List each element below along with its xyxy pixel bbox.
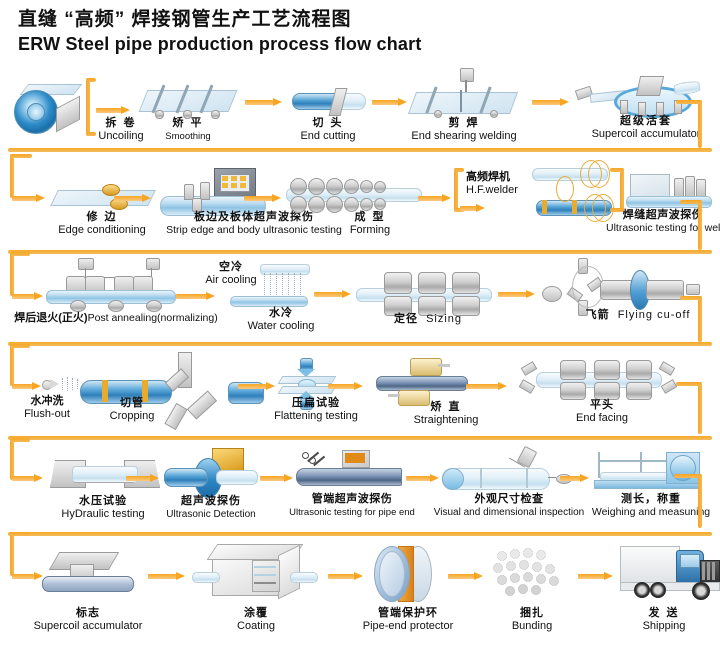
- step-cn: 水冷: [232, 308, 330, 320]
- title-chinese: 直缝 “高频” 焊接钢管生产工艺流程图: [18, 8, 422, 32]
- hydro-test-icon: [48, 452, 158, 492]
- step-label-hydro-test: 水压试验 HyDraulic testing: [50, 496, 156, 521]
- flow-row-4: 水冲洗 Flush-out 切管 Cropping: [8, 352, 712, 434]
- step-en: Post annealing(normalizing): [88, 312, 218, 324]
- step-en: Strip edge and body ultrasonic testing: [156, 224, 352, 237]
- row4-arrow-3: [466, 382, 508, 391]
- row4-entry-arrow: [12, 382, 42, 391]
- row-divider-2: [8, 250, 712, 254]
- step-label-edge-conditioning: 修 边 Edge conditioning: [38, 212, 166, 237]
- annealing-furnace-icon: [46, 260, 178, 314]
- step-label-shipping: 发 送 Shipping: [616, 608, 712, 633]
- flow-row-2: 修 边 Edge conditioning 板边及板体超声波探伤 Strip e…: [8, 160, 712, 248]
- step-label-straightening: 矫 直 Straightening: [398, 402, 494, 427]
- step-cn: 切 头: [286, 118, 370, 130]
- step-cn: 水压试验: [50, 496, 156, 508]
- step-en: Pipe-end protector: [342, 620, 474, 633]
- step-en: Cropping: [84, 410, 180, 423]
- accumulator-loop-icon: [576, 74, 696, 120]
- water-jet-icon: [42, 376, 82, 394]
- row1-arrow-2: [245, 98, 283, 107]
- row5-arrow-1: [126, 474, 160, 483]
- step-label-coating: 涂覆 Coating: [214, 608, 298, 633]
- pipe-end-ut-icon: [296, 450, 402, 494]
- step-cn: 水冲洗: [8, 396, 86, 408]
- step-label-visual-inspection: 外观尺寸检查 Visual and dimensional inspection: [418, 494, 600, 519]
- step-cn: 切管: [84, 398, 180, 410]
- row3-entry-arrow: [12, 292, 44, 301]
- row6-entry-arrow: [12, 572, 44, 581]
- row1-arrow-3: [372, 98, 408, 107]
- forming-rolls-icon: [286, 176, 422, 210]
- row2-arrow-3: [418, 194, 452, 203]
- step-en: Edge conditioning: [38, 224, 166, 237]
- row3-arrow-1: [176, 292, 216, 301]
- step-label-cropping: 切管 Cropping: [84, 398, 180, 423]
- step-en: Water cooling: [232, 320, 330, 333]
- step-label-pipe-end-ut: 管端超声波探伤 Ultrasonic testing for pipe end: [276, 494, 428, 519]
- shear-welder-icon: [412, 70, 516, 118]
- step-combined: 定径 Sizing: [378, 314, 478, 326]
- coating-booth-icon: [204, 544, 314, 598]
- row2-arrow-1: [114, 194, 152, 203]
- ut-cabinet-icon: [158, 168, 268, 214]
- step-en: Flattening testing: [252, 410, 380, 423]
- step-en: Ultrasonic testing for pipe end: [276, 506, 428, 519]
- step-cn: 矫 直: [398, 402, 494, 414]
- water-spray-icon: [256, 264, 312, 306]
- step-label-strip-ut: 板边及板体超声波探伤 Strip edge and body ultrasoni…: [156, 212, 352, 237]
- weighing-scale-icon: [594, 448, 702, 496]
- title-english: ERW Steel pipe production process flow c…: [18, 33, 422, 56]
- step-label-water-cooling: 水冷 Water cooling: [232, 308, 330, 333]
- row5-arrow-4: [560, 474, 590, 483]
- row6-arrow-2: [328, 572, 364, 581]
- end-facing-icon: [518, 356, 678, 404]
- sizing-rolls-icon: [356, 272, 492, 314]
- step-cn: 管端保护环: [342, 608, 474, 620]
- step-cn: 超级活套: [586, 116, 706, 128]
- flow-row-3: 焊后退火(正火)Post annealing(normalizing) 空冷 A…: [8, 260, 712, 340]
- row6-arrow-4: [578, 572, 614, 581]
- step-label-forming: 成 型 Forming: [338, 212, 402, 237]
- step-en: Flush-out: [8, 408, 86, 421]
- step-en: End cutting: [286, 130, 370, 143]
- step-cn: 矫 平: [148, 118, 228, 130]
- page-title: 直缝 “高频” 焊接钢管生产工艺流程图 ERW Steel pipe produ…: [18, 8, 422, 56]
- row6-arrow-3: [448, 572, 484, 581]
- row-divider-4: [8, 436, 712, 440]
- step-label-flying-cutoff: 飞箭 Flying cu-off: [560, 310, 716, 322]
- step-label-weld-seam-ut: 焊缝超声波探伤 Ultrasonic testing for weld seam: [606, 210, 720, 235]
- step-cn: 标志: [18, 608, 158, 620]
- shear-blade-icon: [292, 88, 364, 114]
- step-cn: 捆扎: [490, 608, 574, 620]
- step-en: Smoothing: [148, 130, 228, 143]
- step-cn: 压扁试验: [252, 398, 380, 410]
- step-en: Sizing: [426, 313, 462, 325]
- step-en: Supercoil accumulator: [586, 128, 706, 141]
- step-en: Supercoil accumulator: [18, 620, 158, 633]
- step-en: Coating: [214, 620, 298, 633]
- row2-arrow-4: [460, 204, 486, 213]
- row4-arrow-1: [238, 382, 276, 391]
- step-en: Shipping: [616, 620, 712, 633]
- step-cn: 剪 焊: [400, 118, 528, 130]
- ut-head-icon: [164, 448, 256, 496]
- step-label-marking: 标志 Supercoil accumulator: [18, 608, 158, 633]
- step-label-uncoiling: 拆 卷 Uncoiling: [86, 118, 156, 143]
- row3-arrow-3: [498, 290, 536, 299]
- step-cn: 焊缝超声波探伤: [606, 210, 720, 222]
- steel-coil-icon: [12, 82, 82, 130]
- straightening-rolls-icon: [376, 358, 466, 404]
- step-label-smoothing: 矫 平 Smoothing: [148, 118, 228, 143]
- step-label-end-cutting: 切 头 End cutting: [286, 118, 370, 143]
- step-en: Uncoiling: [86, 130, 156, 143]
- bundling-icon: [490, 548, 570, 598]
- row2-arrow-2: [244, 194, 282, 203]
- row1-arrow-1: [96, 106, 130, 115]
- step-cn: 外观尺寸检查: [418, 494, 600, 506]
- step-cn: 发 送: [616, 608, 712, 620]
- flowchart-page: 直缝 “高频” 焊接钢管生产工艺流程图 ERW Steel pipe produ…: [0, 0, 720, 653]
- step-en: HyDraulic testing: [50, 508, 156, 521]
- step-en: End shearing welding: [400, 130, 528, 143]
- row4-arrow-2: [328, 382, 364, 391]
- end-cap-icon: [374, 546, 442, 602]
- step-en: Ultrasonic testing for weld seam: [606, 222, 720, 235]
- step-label-accumulator: 超级活套 Supercoil accumulator: [586, 116, 706, 141]
- step-label-annealing: 焊后退火(正火)Post annealing(normalizing): [8, 312, 224, 325]
- step-label-sizing: 定径 Sizing: [378, 314, 478, 326]
- step-cn: 超声波探伤: [158, 496, 264, 508]
- row3-arrow-2: [314, 290, 352, 299]
- flow-row-5: 水压试验 HyDraulic testing 超声波探伤 Ultrasonic …: [8, 446, 712, 530]
- step-cn: 定径: [394, 313, 418, 325]
- step-label-shear-welding: 剪 焊 End shearing welding: [400, 118, 528, 143]
- step-cn: 板边及板体超声波探伤: [156, 212, 352, 224]
- step-combined: 焊后退火(正火)Post annealing(normalizing): [8, 312, 224, 325]
- visual-inspect-icon: [442, 448, 572, 494]
- marking-icon: [42, 552, 134, 588]
- row6-arrow-1: [148, 572, 186, 581]
- step-label-end-protector: 管端保护环 Pipe-end protector: [342, 608, 474, 633]
- step-cn: 飞箭: [586, 309, 610, 321]
- step-en: Visual and dimensional inspection: [418, 506, 600, 519]
- weld-seam-ut-icon: [630, 174, 708, 212]
- row5-arrow-3: [406, 474, 440, 483]
- flying-saw-icon: [542, 260, 702, 312]
- step-en: Straightening: [398, 414, 494, 427]
- step-label-ut-detection: 超声波探伤 Ultrasonic Detection: [158, 496, 264, 521]
- row5-entry-arrow: [12, 474, 44, 483]
- step-cn: 焊后退火(正火): [14, 312, 87, 324]
- row-divider-3: [8, 342, 712, 346]
- flow-row-1: 拆 卷 Uncoiling 矫 平 Smoothing 切 头: [8, 70, 712, 148]
- step-combined: 飞箭 Flying cu-off: [560, 310, 716, 322]
- leveling-rolls-icon: [143, 82, 233, 118]
- step-cn: 修 边: [38, 212, 166, 224]
- step-en: End facing: [548, 412, 656, 425]
- row5-arrow-2: [260, 474, 294, 483]
- row2-entry-arrow: [12, 194, 46, 203]
- step-en: Flying cu-off: [618, 309, 691, 321]
- flow-row-6: 标志 Supercoil accumulator 涂覆 Coating: [8, 542, 712, 646]
- truck-icon: [620, 544, 720, 602]
- step-cn: 涂覆: [214, 608, 298, 620]
- step-cn: 拆 卷: [86, 118, 156, 130]
- step-cn: 平头: [548, 400, 656, 412]
- step-cn: 成 型: [338, 212, 402, 224]
- step-cn: 管端超声波探伤: [276, 494, 428, 506]
- step-label-flattening: 压扁试验 Flattening testing: [252, 398, 380, 423]
- step-en: Ultrasonic Detection: [158, 508, 264, 521]
- step-en: Bunding: [490, 620, 574, 633]
- row-divider-5: [8, 532, 712, 536]
- step-label-end-facing: 平头 End facing: [548, 400, 656, 425]
- row1-arrow-4: [532, 98, 570, 107]
- row-divider-1: [8, 148, 712, 152]
- step-label-flush-out: 水冲洗 Flush-out: [8, 396, 86, 421]
- step-label-bundling: 捆扎 Bunding: [490, 608, 574, 633]
- step-en: Forming: [338, 224, 402, 237]
